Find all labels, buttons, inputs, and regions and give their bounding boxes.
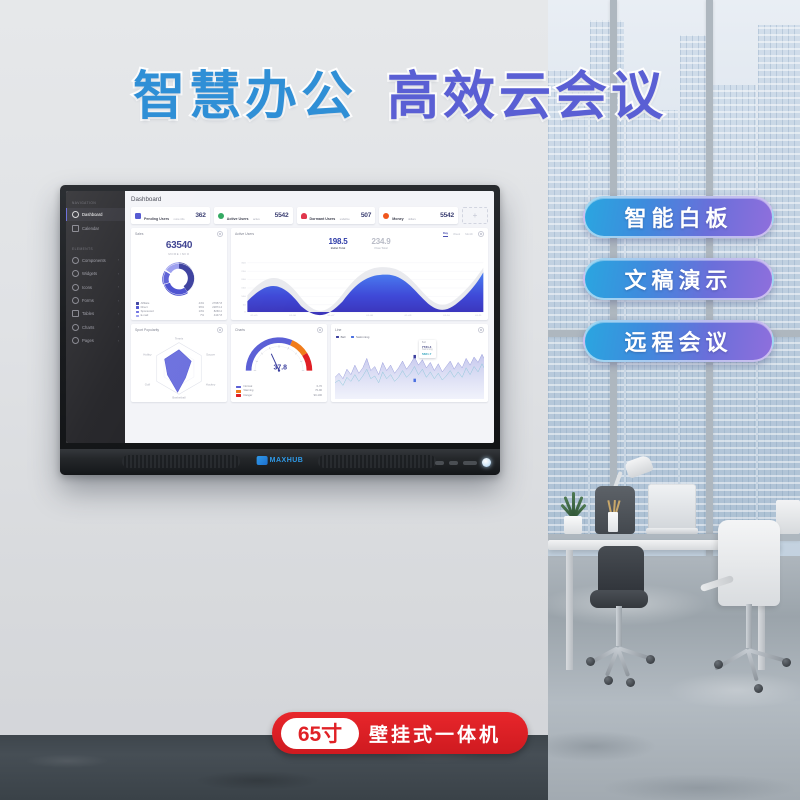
chart-tooltip: Ball 7731.4 Swimming 5881.7 [419, 340, 436, 358]
sidebar-group-elements-title: ELEMENTS [66, 243, 125, 254]
bookmark-icon [135, 213, 141, 219]
sport-popularity-title: Sport Popularity [135, 328, 159, 332]
star-icon [72, 284, 79, 291]
active-users-totals: 198.5 Bullet Total 234.9 Flow Total [231, 238, 488, 250]
stat-card-label: Money [392, 217, 403, 221]
tab-day[interactable]: Day [443, 231, 448, 237]
sport-radar-chart: Tennis Soccer Hockey Basketball Golf Hob… [131, 334, 227, 400]
svg-text:Soccer: Soccer [206, 353, 215, 357]
bullet-total-caption: Bullet Total [328, 247, 347, 250]
sales-legend: Affiliate 44% 27957.8 Direct 36% 22874.4 [131, 299, 227, 319]
chair-post [616, 606, 622, 646]
stat-card-label: Dormant Users [310, 217, 336, 221]
stat-card-money[interactable]: Money dollars 5542 [379, 207, 458, 224]
speaker-grille-right [318, 455, 436, 468]
chevron-right-icon: › [118, 312, 119, 316]
speaker-grille-left [122, 455, 240, 468]
chair-caster [782, 658, 791, 667]
headline-part-2: 高效云会议 [387, 71, 667, 123]
display-screen: NAVIGATION Dashboard Calendar ELEMENTS C… [66, 191, 494, 443]
chevron-right-icon: › [118, 258, 119, 262]
bezel-controls [435, 458, 491, 467]
gauge-value: 37.8 [273, 364, 287, 371]
legend-swatch [136, 302, 139, 305]
widget-icon [72, 270, 79, 277]
sidebar-item-label: Icons [82, 285, 92, 290]
svg-text:0: 0 [244, 312, 246, 314]
stat-card-dormant-users[interactable]: Dormant Users undefine 507 [297, 207, 376, 224]
svg-text:Hockey: Hockey [206, 383, 216, 387]
legend-amount: 4447.8 [204, 314, 222, 318]
chevron-right-icon: › [118, 339, 119, 343]
home-icon [72, 211, 79, 218]
sidebar-item-label: Components [82, 258, 106, 263]
svg-text:Golf: Golf [145, 383, 150, 387]
sales-donut-chart [131, 259, 227, 299]
svg-text:01-05: 01-05 [251, 315, 259, 317]
potted-plant-leaves [565, 492, 581, 518]
dashboard-app: NAVIGATION Dashboard Calendar ELEMENTS C… [66, 191, 494, 443]
heart-icon [301, 213, 307, 219]
active-users-title: Active Users [235, 232, 254, 236]
legend-swatch [236, 390, 241, 393]
chevron-right-icon: › [118, 299, 119, 303]
sidebar-item-forms[interactable]: Forms › [66, 294, 125, 307]
svg-text:Tennis: Tennis [175, 337, 184, 341]
sidebar-item-label: Dashboard [82, 212, 103, 217]
sidebar-item-tables[interactable]: Tables › [66, 307, 125, 320]
gauge-legend: Normal 0-70 Warning 70-90 [236, 385, 322, 398]
chart-icon [72, 324, 79, 331]
feature-badge-list: 智能白板 文稿演示 远程会议 [583, 196, 788, 382]
cloud-icon [218, 213, 224, 219]
poster-stage: 智慧办公 高效云会议 智能白板 文稿演示 远程会议 65寸 壁挂式一体机 NAV… [0, 0, 800, 800]
gear-icon[interactable] [478, 327, 484, 333]
sidebar-item-pages[interactable]: Pages › [66, 334, 125, 347]
sidebar-item-calendar[interactable]: Calendar [66, 221, 125, 234]
sidebar-item-label: Calendar [82, 226, 99, 231]
gear-icon[interactable] [217, 327, 223, 333]
flow-total-caption: Flow Total [372, 247, 391, 250]
chair-caster [754, 684, 763, 693]
pen-holder-cup [608, 512, 618, 532]
sidebar-item-icons[interactable]: Icons › [66, 281, 125, 294]
legend-pct: 7% [190, 314, 204, 318]
svg-text:300: 300 [241, 263, 246, 265]
headline-part-1: 智慧办公 [133, 71, 357, 123]
svg-text:01-06: 01-06 [289, 315, 297, 317]
svg-text:01-07: 01-07 [328, 315, 336, 317]
brand-logo: MAXHUB [257, 456, 304, 465]
gear-icon[interactable] [478, 231, 484, 237]
chevron-right-icon: › [118, 272, 119, 276]
svg-text:Hobby: Hobby [143, 353, 152, 357]
form-icon [72, 297, 79, 304]
table-icon [72, 310, 79, 317]
sidebar-item-charts[interactable]: Charts › [66, 321, 125, 334]
product-label: 65寸 壁挂式一体机 [272, 712, 528, 754]
sidebar-item-label: Widgets [82, 271, 97, 276]
line-card-title: Line [335, 328, 341, 332]
gauge-card: Charts [231, 324, 327, 402]
dashboard-row-2: Sales 63540 MORE INFO [131, 228, 488, 320]
poster-headline: 智慧办公 高效云会议 [0, 62, 800, 132]
legend-range: 90-100 [314, 394, 322, 398]
svg-text:01-09: 01-09 [405, 315, 413, 317]
chevron-right-icon: › [118, 325, 119, 329]
svg-text:01-08: 01-08 [366, 315, 374, 317]
legend-swatch [136, 315, 139, 318]
stat-card-value: 5542 [440, 212, 454, 219]
laptop-screen [648, 484, 696, 529]
potted-plant-pot [564, 516, 582, 534]
legend-row: E-mail 7% 4447.8 [136, 314, 222, 318]
svg-text:150: 150 [241, 288, 246, 290]
chair-caster [626, 678, 635, 687]
brand-mark-icon [257, 456, 268, 465]
tooltip-value-1: 7731.4 [422, 345, 433, 349]
display-bottom-bezel: MAXHUB [60, 449, 500, 475]
sales-card-title: Sales [135, 232, 143, 236]
dashboard-main: Dashboard Pending Users more info 362 [125, 191, 494, 443]
stat-card-label: Active Users [227, 217, 249, 221]
volume-up-button[interactable] [449, 461, 458, 465]
stat-card-sub: active [253, 218, 260, 221]
gauge-card-title: Charts [235, 328, 245, 332]
stat-card-value: 507 [361, 212, 371, 219]
legend-row: Danger 90-100 [236, 394, 322, 398]
chair-caster [714, 660, 723, 669]
dollar-icon [383, 213, 389, 219]
sidebar-item-label: Forms [82, 298, 94, 303]
stat-card-pending-users[interactable]: Pending Users more info 362 [131, 207, 210, 224]
screen-size-pill: 65寸 [281, 718, 359, 749]
stat-card-label: Pending Users [144, 217, 169, 221]
gear-icon[interactable] [217, 231, 223, 237]
svg-text:100: 100 [241, 296, 246, 298]
legend-name: E-mail [141, 314, 190, 318]
active-users-tabs: Day Week Month [443, 231, 484, 237]
page-title: Dashboard [131, 196, 488, 203]
grid-icon [72, 257, 79, 264]
chair-caster [586, 657, 595, 666]
source-button[interactable] [463, 461, 477, 465]
legend-name: Danger [244, 394, 314, 398]
chevron-right-icon: › [118, 285, 119, 289]
svg-text:Basketball: Basketball [172, 396, 186, 400]
chair-near-back [598, 546, 644, 594]
stat-card-sub: undefine [340, 218, 350, 221]
sales-more-info[interactable]: MORE INFO [131, 252, 227, 256]
svg-text:250: 250 [241, 271, 246, 273]
svg-text:200: 200 [241, 279, 246, 281]
sidebar-group-navigation-title: NAVIGATION [66, 197, 125, 208]
sport-popularity-card: Sport Popularity [131, 324, 227, 402]
page-icon [72, 337, 79, 344]
chair-white-back [718, 520, 780, 606]
interactive-flat-panel: NAVIGATION Dashboard Calendar ELEMENTS C… [60, 185, 500, 475]
sidebar-item-widgets[interactable]: Widgets › [66, 267, 125, 280]
feature-badge-whiteboard[interactable]: 智能白板 [583, 196, 774, 238]
tab-week[interactable]: Week [453, 232, 460, 236]
legend-swatch [236, 386, 241, 389]
active-users-area-chart: 300250200 150100500 01-0501-0601-07 01-0… [234, 258, 485, 318]
legend-swatch [136, 306, 139, 309]
brand-name: MAXHUB [270, 457, 304, 464]
gauge-chart: 37.8 [231, 335, 327, 377]
volume-down-button[interactable] [435, 461, 444, 465]
product-type-text: 壁挂式一体机 [369, 720, 501, 747]
desk-leg [566, 550, 573, 670]
chair-caster [604, 676, 613, 685]
feature-badge-remote-meeting[interactable]: 远程会议 [583, 320, 774, 362]
power-led-icon[interactable] [482, 458, 491, 467]
svg-text:50: 50 [243, 305, 247, 307]
sidebar-item-components[interactable]: Components › [66, 254, 125, 267]
flow-total-value: 234.9 [372, 238, 391, 246]
stat-card-value: 5542 [275, 212, 289, 219]
stat-card-active-users[interactable]: Active Users active 5542 [214, 207, 293, 224]
gear-icon[interactable] [317, 327, 323, 333]
laptop-base [646, 528, 698, 534]
stat-card-sub: dollars [408, 218, 416, 221]
sidebar-item-dashboard[interactable]: Dashboard [66, 208, 125, 221]
line-card: Line Ball Swimming [331, 324, 488, 402]
sidebar-item-label: Charts [82, 325, 94, 330]
stat-card-sub: more info [174, 218, 185, 221]
svg-text:01-10: 01-10 [443, 315, 451, 317]
bullet-total-value: 198.5 [328, 238, 347, 246]
sidebar-item-label: Tables [82, 311, 94, 316]
active-users-card: Active Users Day Week Month [231, 228, 488, 320]
feature-badge-presentation[interactable]: 文稿演示 [583, 258, 774, 300]
stat-card-row: Pending Users more info 362 Active Users… [131, 207, 488, 224]
sidebar-item-label: Pages [82, 338, 94, 343]
sales-total-value: 63540 [131, 240, 227, 251]
add-card-button[interactable]: + [462, 207, 488, 224]
legend-swatch [136, 311, 139, 314]
sales-card: Sales 63540 MORE INFO [131, 228, 227, 320]
svg-text:01-11: 01-11 [475, 315, 482, 317]
legend-swatch [236, 394, 241, 397]
stat-card-value: 362 [195, 212, 205, 219]
chair-post [746, 604, 752, 648]
chair-caster [646, 655, 655, 664]
tooltip-value-2: 5881.7 [422, 352, 433, 356]
calendar-icon [72, 225, 79, 232]
tab-month[interactable]: Month [465, 232, 473, 236]
sidebar: NAVIGATION Dashboard Calendar ELEMENTS C… [66, 191, 125, 443]
dashboard-row-3: Sport Popularity [131, 324, 488, 402]
line-area-chart [335, 338, 484, 399]
